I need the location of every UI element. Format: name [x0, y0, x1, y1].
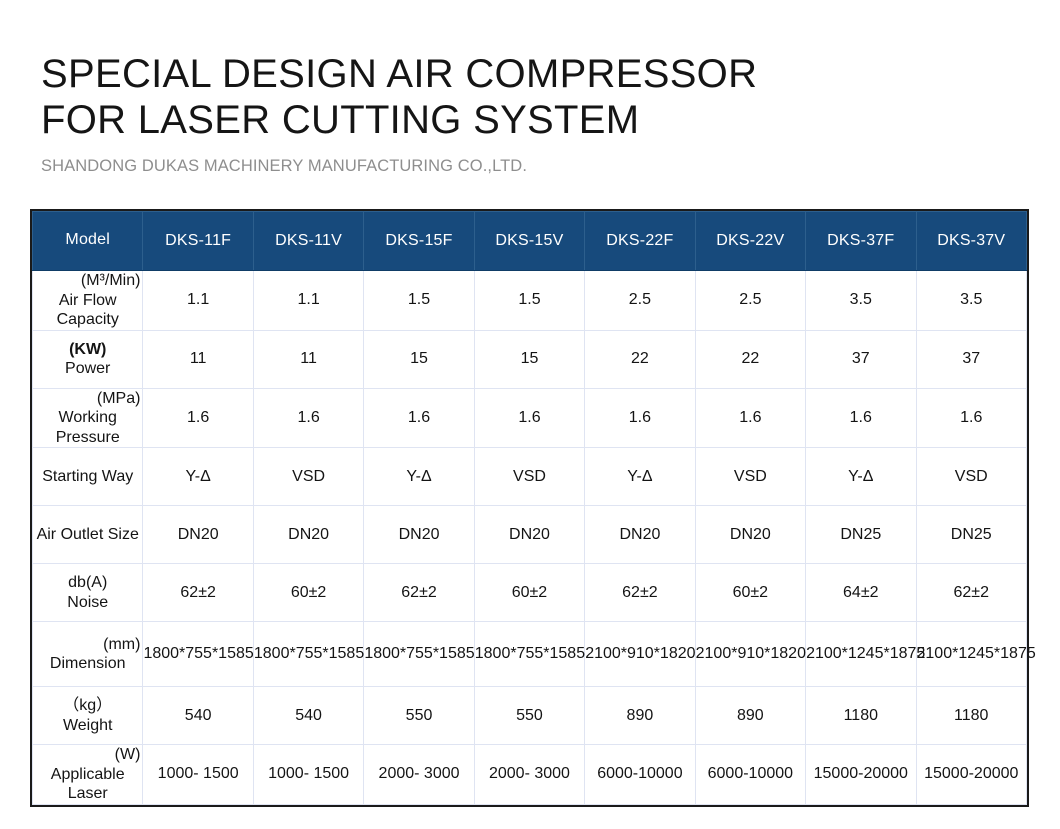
table-cell: 6000-10000 — [585, 745, 695, 805]
table-cell: 1800*755*1585 — [474, 622, 584, 687]
table-cell: DN20 — [474, 506, 584, 564]
table-cell: DN20 — [143, 506, 253, 564]
table-cell: 1.6 — [916, 388, 1027, 448]
table-header-row: Model DKS-11F DKS-11V DKS-15F DKS-15V DK… — [33, 212, 1027, 271]
row-unit-label: (W) — [33, 745, 142, 765]
column-header-1: DKS-11V — [253, 212, 363, 271]
table-cell: 37 — [806, 330, 916, 388]
row-name-label: Noise — [33, 593, 142, 613]
table-cell: 62±2 — [585, 564, 695, 622]
table-cell: DN25 — [916, 506, 1027, 564]
table-cell: 2000- 3000 — [474, 745, 584, 805]
table-cell: 890 — [585, 687, 695, 745]
table-cell: DN20 — [695, 506, 805, 564]
column-header-5: DKS-22V — [695, 212, 805, 271]
row-label-cell: Air Outlet Size — [33, 506, 143, 564]
table-cell: 2000- 3000 — [364, 745, 474, 805]
row-label-cell: （kg）Weight — [33, 687, 143, 745]
table-cell: 2100*1245*1875 — [916, 622, 1027, 687]
table-cell: DN20 — [364, 506, 474, 564]
table-cell: 2100*910*1820 — [585, 622, 695, 687]
table-cell: 3.5 — [806, 271, 916, 331]
table-cell: 1.6 — [806, 388, 916, 448]
table-cell: 890 — [695, 687, 805, 745]
row-label-cell: (KW)Power — [33, 330, 143, 388]
table-cell: 62±2 — [364, 564, 474, 622]
table-cell: 1.6 — [474, 388, 584, 448]
table-cell: 3.5 — [916, 271, 1027, 331]
row-label-cell: (mm)Dimension — [33, 622, 143, 687]
table-cell: 540 — [143, 687, 253, 745]
row-name-label: Air Outlet Size — [33, 525, 142, 545]
row-name-label: Dimension — [33, 654, 142, 674]
row-name-label: Applicable Laser — [33, 765, 142, 804]
table-cell: VSD — [916, 448, 1027, 506]
table-cell: 2.5 — [585, 271, 695, 331]
table-cell: 22 — [695, 330, 805, 388]
table-cell: 550 — [364, 687, 474, 745]
row-name-label: Power — [33, 359, 142, 379]
table-row: (MPa)Working Pressure1.61.61.61.61.61.61… — [33, 388, 1027, 448]
table-cell: 6000-10000 — [695, 745, 805, 805]
table-cell: 22 — [585, 330, 695, 388]
table-row: (W)Applicable Laser1000- 15001000- 15002… — [33, 745, 1027, 805]
table-body: (M³/Min)Air Flow Capacity1.11.11.51.52.5… — [33, 271, 1027, 805]
table-cell: 15000-20000 — [806, 745, 916, 805]
row-unit-label: (KW) — [33, 340, 142, 360]
row-unit-label: (MPa) — [33, 389, 142, 409]
table-cell: 1.5 — [364, 271, 474, 331]
table-cell: 11 — [143, 330, 253, 388]
column-header-6: DKS-37F — [806, 212, 916, 271]
row-name-label: Starting Way — [33, 467, 142, 487]
table-row: (mm)Dimension1800*755*15851800*755*15851… — [33, 622, 1027, 687]
specification-table: Model DKS-11F DKS-11V DKS-15F DKS-15V DK… — [32, 211, 1027, 805]
page-title: SPECIAL DESIGN AIR COMPRESSOR FOR LASER … — [41, 52, 1021, 143]
table-cell: 2100*910*1820 — [695, 622, 805, 687]
table-cell: 2.5 — [695, 271, 805, 331]
table-corner-header: Model — [33, 212, 143, 271]
row-unit-label: （kg） — [33, 696, 142, 716]
table-cell: 15 — [364, 330, 474, 388]
table-row: Air Outlet SizeDN20DN20DN20DN20DN20DN20D… — [33, 506, 1027, 564]
table-cell: 1.6 — [253, 388, 363, 448]
table-cell: 1180 — [916, 687, 1027, 745]
product-spec-page: SPECIAL DESIGN AIR COMPRESSOR FOR LASER … — [0, 0, 1060, 829]
table-cell: Y-Δ — [806, 448, 916, 506]
table-cell: 550 — [474, 687, 584, 745]
table-cell: 1.5 — [474, 271, 584, 331]
table-cell: 64±2 — [806, 564, 916, 622]
column-header-3: DKS-15V — [474, 212, 584, 271]
column-header-2: DKS-15F — [364, 212, 474, 271]
row-label-cell: (M³/Min)Air Flow Capacity — [33, 271, 143, 331]
table-cell: 2100*1245*1875 — [806, 622, 916, 687]
company-subtitle: SHANDONG DUKAS MACHINERY MANUFACTURING C… — [41, 143, 1021, 176]
table-cell: 1000- 1500 — [253, 745, 363, 805]
row-label-cell: (W)Applicable Laser — [33, 745, 143, 805]
table-cell: 15 — [474, 330, 584, 388]
table-row: (M³/Min)Air Flow Capacity1.11.11.51.52.5… — [33, 271, 1027, 331]
table-cell: 1.6 — [585, 388, 695, 448]
table-row: (KW)Power1111151522223737 — [33, 330, 1027, 388]
table-cell: 1.6 — [364, 388, 474, 448]
table-cell: 11 — [253, 330, 363, 388]
table-cell: 37 — [916, 330, 1027, 388]
table-row: Starting WayY-ΔVSDY-ΔVSDY-ΔVSDY-ΔVSD — [33, 448, 1027, 506]
column-header-7: DKS-37V — [916, 212, 1027, 271]
row-unit-label: (M³/Min) — [33, 271, 142, 291]
table-cell: 1000- 1500 — [143, 745, 253, 805]
table-cell: 1800*755*1585 — [364, 622, 474, 687]
table-cell: 540 — [253, 687, 363, 745]
table-cell: Y-Δ — [143, 448, 253, 506]
table-cell: 62±2 — [143, 564, 253, 622]
table-cell: 1.6 — [143, 388, 253, 448]
table-cell: Y-Δ — [585, 448, 695, 506]
table-cell: 1800*755*1585 — [143, 622, 253, 687]
table-cell: 60±2 — [474, 564, 584, 622]
heading-block: SPECIAL DESIGN AIR COMPRESSOR FOR LASER … — [41, 52, 1021, 176]
column-header-0: DKS-11F — [143, 212, 253, 271]
table-cell: 60±2 — [253, 564, 363, 622]
table-row: db(A)Noise62±260±262±260±262±260±264±262… — [33, 564, 1027, 622]
table-row: （kg）Weight54054055055089089011801180 — [33, 687, 1027, 745]
table-cell: Y-Δ — [364, 448, 474, 506]
row-name-label: Air Flow Capacity — [33, 291, 142, 330]
row-label-cell: db(A)Noise — [33, 564, 143, 622]
row-unit-label: (mm) — [33, 635, 142, 655]
table-cell: VSD — [253, 448, 363, 506]
row-label-cell: Starting Way — [33, 448, 143, 506]
table-cell: 1.1 — [253, 271, 363, 331]
table-cell: DN20 — [585, 506, 695, 564]
table-cell: 1800*755*1585 — [253, 622, 363, 687]
table-cell: 62±2 — [916, 564, 1027, 622]
table-cell: VSD — [474, 448, 584, 506]
row-name-label: Working Pressure — [33, 408, 142, 447]
table-cell: DN25 — [806, 506, 916, 564]
table-cell: 15000-20000 — [916, 745, 1027, 805]
specification-table-wrapper: Model DKS-11F DKS-11V DKS-15F DKS-15V DK… — [30, 209, 1029, 807]
table-head: Model DKS-11F DKS-11V DKS-15F DKS-15V DK… — [33, 212, 1027, 271]
table-cell: 1.1 — [143, 271, 253, 331]
table-cell: DN20 — [253, 506, 363, 564]
table-cell: 60±2 — [695, 564, 805, 622]
row-unit-label: db(A) — [33, 573, 142, 593]
table-cell: VSD — [695, 448, 805, 506]
table-cell: 1.6 — [695, 388, 805, 448]
column-header-4: DKS-22F — [585, 212, 695, 271]
row-name-label: Weight — [33, 716, 142, 736]
row-label-cell: (MPa)Working Pressure — [33, 388, 143, 448]
table-cell: 1180 — [806, 687, 916, 745]
